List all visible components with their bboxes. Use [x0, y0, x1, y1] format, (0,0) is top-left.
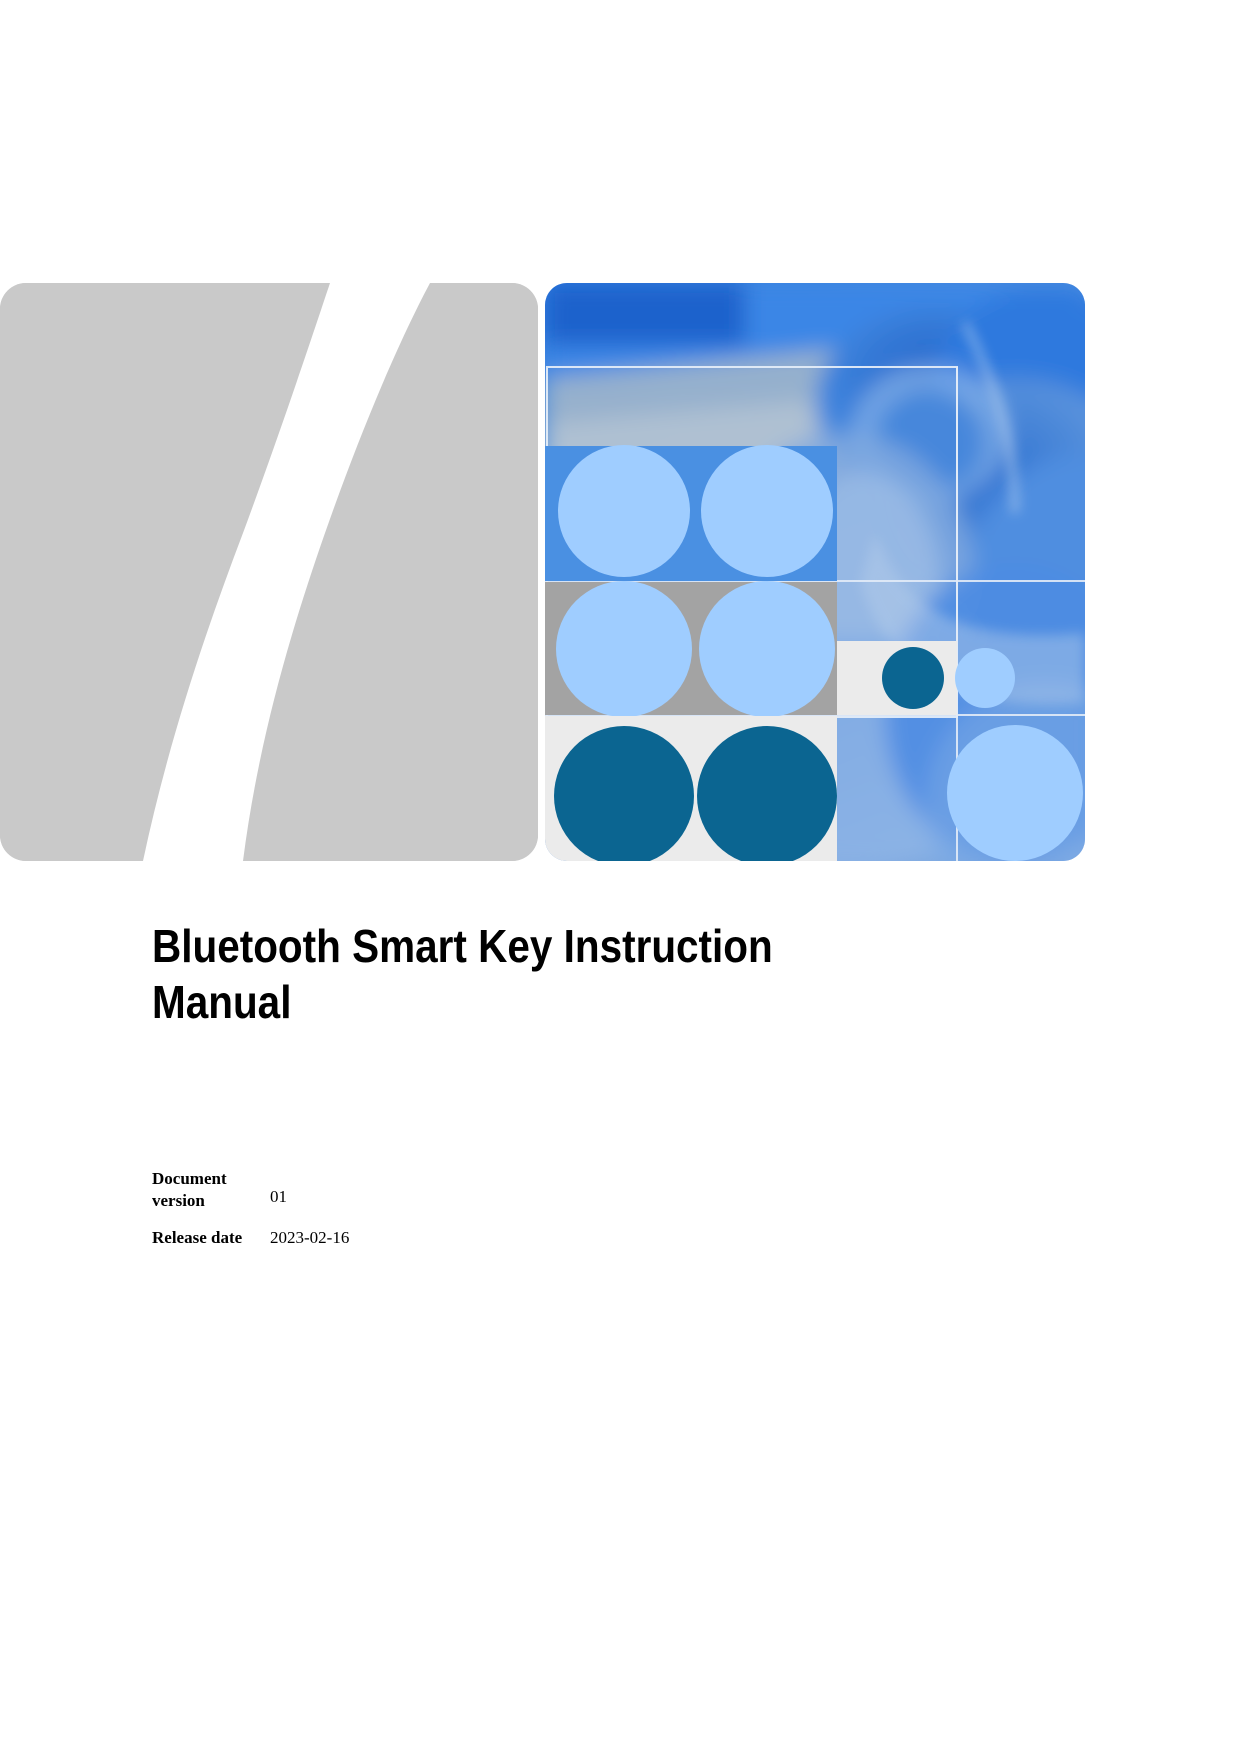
collage-row-3 [545, 716, 1083, 861]
metadata-row-release-date: Release date 2023-02-16 [152, 1227, 582, 1249]
document-metadata: Document version 01 Release date 2023-02… [152, 1168, 582, 1263]
metadata-value-release-date: 2023-02-16 [270, 1227, 582, 1249]
page-title: Bluetooth Smart Key Instruction Manual [152, 918, 856, 1030]
metadata-label-document-version: Document version [152, 1168, 270, 1213]
collage-row-1 [545, 445, 837, 581]
metadata-row-document-version: Document version 01 [152, 1168, 582, 1213]
blue-photo-collage-panel [545, 283, 1085, 861]
metadata-label-release-date: Release date [152, 1227, 270, 1249]
cover-artwork [0, 283, 1085, 861]
cover-page: Bluetooth Smart Key Instruction Manual D… [0, 0, 1241, 1755]
gray-logo-panel [0, 283, 538, 861]
metadata-value-document-version: 01 [270, 1168, 582, 1208]
